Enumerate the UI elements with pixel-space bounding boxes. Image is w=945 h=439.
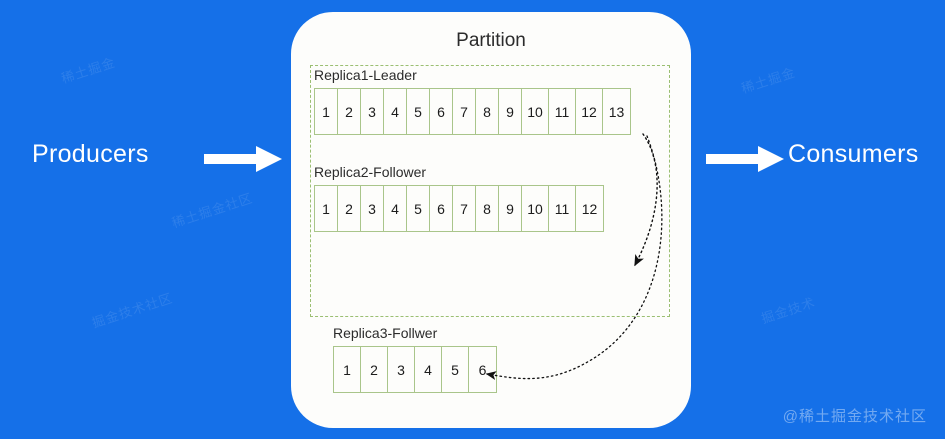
log-cell: 12 (576, 89, 603, 134)
log-cell: 9 (499, 186, 522, 231)
log-cell: 11 (549, 186, 576, 231)
log-cell: 1 (334, 347, 361, 392)
log-cell: 5 (442, 347, 469, 392)
log-cell: 9 (499, 89, 522, 134)
log-cell: 1 (315, 186, 338, 231)
replica-2-label: Replica2-Follower (314, 164, 604, 180)
log-cell: 4 (415, 347, 442, 392)
replica-3-cells: 1 2 3 4 5 6 (333, 346, 497, 393)
replica-group-2: Replica2-Follower 1 2 3 4 5 6 7 8 9 10 1… (314, 164, 604, 232)
log-cell: 10 (522, 89, 549, 134)
log-cell: 8 (476, 89, 499, 134)
watermark-tile: 稀土掘金社区 (169, 187, 255, 231)
log-cell: 3 (361, 186, 384, 231)
log-cell: 7 (453, 89, 476, 134)
log-cell: 5 (407, 89, 430, 134)
replica-2-cells: 1 2 3 4 5 6 7 8 9 10 11 12 (314, 185, 604, 232)
watermark-tile: 掘金技术 (758, 292, 817, 327)
log-cell: 6 (430, 186, 453, 231)
log-cell: 6 (430, 89, 453, 134)
replica-group-3: Replica3-Follwer 1 2 3 4 5 6 (333, 325, 497, 393)
log-cell: 12 (576, 186, 603, 231)
log-cell: 5 (407, 186, 430, 231)
consumers-label: Consumers (788, 140, 919, 169)
log-cell: 11 (549, 89, 576, 134)
log-cell: 2 (338, 89, 361, 134)
log-cell: 4 (384, 186, 407, 231)
log-cell: 6 (469, 347, 496, 392)
replica-1-cells: 1 2 3 4 5 6 7 8 9 10 11 12 13 (314, 88, 631, 135)
partition-panel: Partition ISR(In-Sync Replicas) Replica1… (291, 12, 691, 428)
log-cell: 2 (338, 186, 361, 231)
diagram-canvas: 稀土掘金 掘金技术社区 稀土掘金 掘金技术 稀土掘金社区 掘金技术社区 稀土掘金… (0, 0, 945, 439)
watermark-tile: 掘金技术社区 (89, 287, 175, 331)
log-cell: 4 (384, 89, 407, 134)
watermark-tile: 稀土掘金 (58, 52, 117, 87)
log-cell: 8 (476, 186, 499, 231)
log-cell: 1 (315, 89, 338, 134)
partition-title: Partition (291, 30, 691, 52)
log-cell: 10 (522, 186, 549, 231)
replica-group-1: Replica1-Leader 1 2 3 4 5 6 7 8 9 10 11 … (314, 67, 631, 135)
log-cell: 3 (388, 347, 415, 392)
log-cell: 13 (603, 89, 630, 134)
producers-arrow-icon (204, 146, 282, 172)
watermark-tile: 稀土掘金 (738, 62, 797, 97)
log-cell: 7 (453, 186, 476, 231)
log-cell: 3 (361, 89, 384, 134)
replica-1-label: Replica1-Leader (314, 67, 631, 83)
producers-label: Producers (32, 140, 149, 169)
corner-watermark: @稀土掘金技术社区 (783, 405, 927, 426)
replica-3-label: Replica3-Follwer (333, 325, 497, 341)
log-cell: 2 (361, 347, 388, 392)
consumers-arrow-icon (706, 146, 784, 172)
